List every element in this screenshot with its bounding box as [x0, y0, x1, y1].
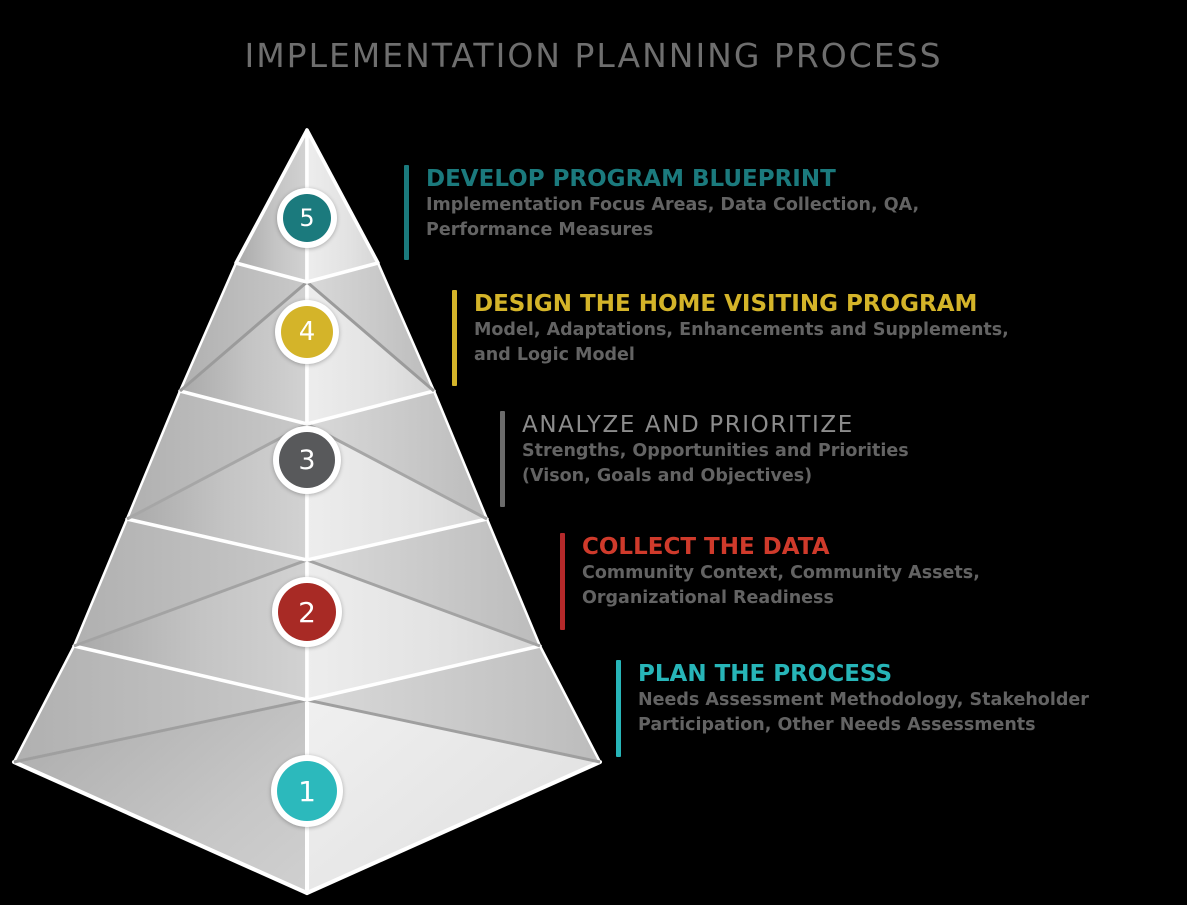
step-badge-disc-2: 2: [278, 583, 336, 641]
step-number-5: 5: [299, 204, 314, 232]
step-desc-5-line2: Performance Measures: [426, 218, 919, 243]
diagram-canvas: IMPLEMENTATION PLANNING PROCESS: [0, 0, 1187, 905]
step-badge-disc-1: 1: [277, 761, 337, 821]
step-number-4: 4: [299, 317, 316, 347]
accent-bar-1: [616, 660, 621, 757]
step-heading-1: PLAN THE PROCESS: [638, 660, 1089, 688]
step-heading-2: COLLECT THE DATA: [582, 533, 980, 561]
step-callout-3[interactable]: ANALYZE AND PRIORITIZE Strengths, Opport…: [500, 411, 909, 507]
step-desc-2-line2: Organizational Readiness: [582, 586, 980, 611]
accent-bar-5: [404, 165, 409, 260]
step-desc-4-line1: Model, Adaptations, Enhancements and Sup…: [474, 318, 1009, 343]
step-desc-3-line1: Strengths, Opportunities and Priorities: [522, 439, 909, 464]
step-badge-disc-3: 3: [279, 432, 335, 488]
step-desc-4: Model, Adaptations, Enhancements and Sup…: [474, 318, 1009, 368]
step-desc-4-line2: and Logic Model: [474, 343, 1009, 368]
step-desc-1-line1: Needs Assessment Methodology, Stakeholde…: [638, 688, 1089, 713]
step-desc-5: Implementation Focus Areas, Data Collect…: [426, 193, 919, 243]
accent-bar-2: [560, 533, 565, 630]
step-desc-2: Community Context, Community Assets, Org…: [582, 561, 980, 611]
step-callout-4[interactable]: DESIGN THE HOME VISITING PROGRAM Model, …: [452, 290, 1009, 386]
step-desc-3-line2: (Vison, Goals and Objectives): [522, 464, 909, 489]
step-callout-5[interactable]: DEVELOP PROGRAM BLUEPRINT Implementation…: [404, 165, 919, 260]
step-badge-5[interactable]: 5: [277, 188, 337, 248]
accent-bar-3: [500, 411, 505, 507]
step-desc-1-line2: Participation, Other Needs Assessments: [638, 713, 1089, 738]
step-badge-2[interactable]: 2: [272, 577, 342, 647]
step-heading-4: DESIGN THE HOME VISITING PROGRAM: [474, 290, 1009, 318]
step-number-3: 3: [298, 445, 315, 476]
step-desc-3: Strengths, Opportunities and Priorities …: [522, 439, 909, 489]
step-number-1: 1: [298, 775, 316, 808]
step-badge-1[interactable]: 1: [271, 755, 343, 827]
step-desc-1: Needs Assessment Methodology, Stakeholde…: [638, 688, 1089, 738]
step-badge-4[interactable]: 4: [275, 300, 339, 364]
step-callout-1[interactable]: PLAN THE PROCESS Needs Assessment Method…: [616, 660, 1089, 757]
accent-bar-4: [452, 290, 457, 386]
step-desc-5-line1: Implementation Focus Areas, Data Collect…: [426, 193, 919, 218]
step-callout-2[interactable]: COLLECT THE DATA Community Context, Comm…: [560, 533, 980, 630]
step-badge-disc-4: 4: [281, 306, 333, 358]
step-heading-5: DEVELOP PROGRAM BLUEPRINT: [426, 165, 919, 193]
step-heading-3: ANALYZE AND PRIORITIZE: [522, 411, 909, 439]
step-badge-disc-5: 5: [283, 194, 331, 242]
step-desc-2-line1: Community Context, Community Assets,: [582, 561, 980, 586]
step-number-2: 2: [298, 596, 316, 629]
step-badge-3[interactable]: 3: [273, 426, 341, 494]
